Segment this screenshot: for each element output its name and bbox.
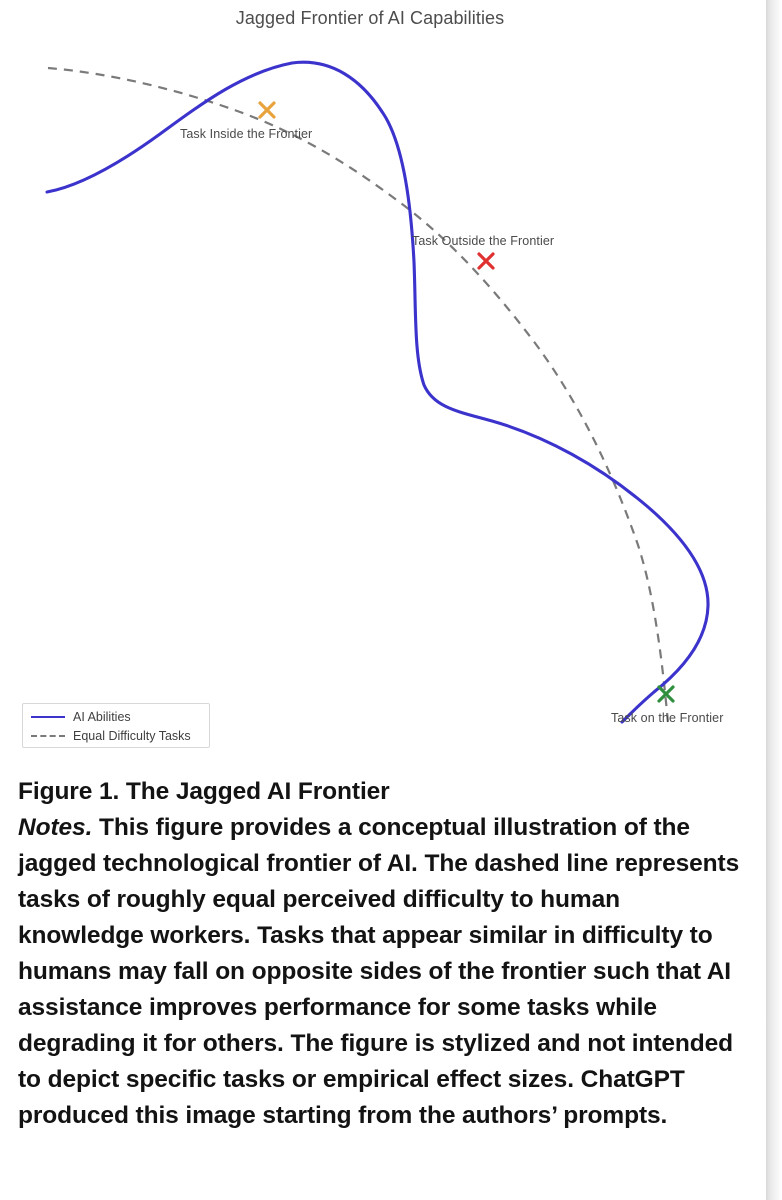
page-edge-shadow xyxy=(766,0,782,1200)
legend-item-equal-difficulty-tasks: Equal Difficulty Tasks xyxy=(31,728,191,744)
solid-line-swatch-icon xyxy=(31,711,65,723)
legend-label-equal-difficulty-tasks: Equal Difficulty Tasks xyxy=(73,729,191,743)
dashed-line-swatch-icon xyxy=(31,730,65,742)
chart-legend: AI Abilities Equal Difficulty Tasks xyxy=(22,703,210,748)
figure-panel: Jagged Frontier of AI Capabilities xyxy=(0,0,766,760)
legend-item-ai-abilities: AI Abilities xyxy=(31,709,131,725)
caption-notes-label: Notes. xyxy=(18,814,92,841)
legend-label-ai-abilities: AI Abilities xyxy=(73,710,131,724)
equal-difficulty-line xyxy=(48,68,668,723)
figure-caption: Figure 1. The Jagged AI FrontierNotes. T… xyxy=(18,774,748,1134)
annotation-task-on-the-frontier: Task on the Frontier xyxy=(611,711,723,725)
jagged-frontier-plot xyxy=(0,0,766,760)
document-page: Jagged Frontier of AI Capabilities xyxy=(0,0,782,1200)
marker-task-outside-the-frontier xyxy=(479,254,493,268)
caption-title: Figure 1. The Jagged AI Frontier xyxy=(18,774,748,810)
annotation-task-inside-the-frontier: Task Inside the Frontier xyxy=(180,127,312,141)
ai-abilities-line xyxy=(47,62,708,722)
page-sheet: Jagged Frontier of AI Capabilities xyxy=(0,0,766,1200)
caption-notes-body: This figure provides a conceptual illust… xyxy=(18,814,739,1129)
marker-task-inside-the-frontier xyxy=(260,103,274,117)
annotation-task-outside-the-frontier: Task Outside the Frontier xyxy=(412,234,554,248)
